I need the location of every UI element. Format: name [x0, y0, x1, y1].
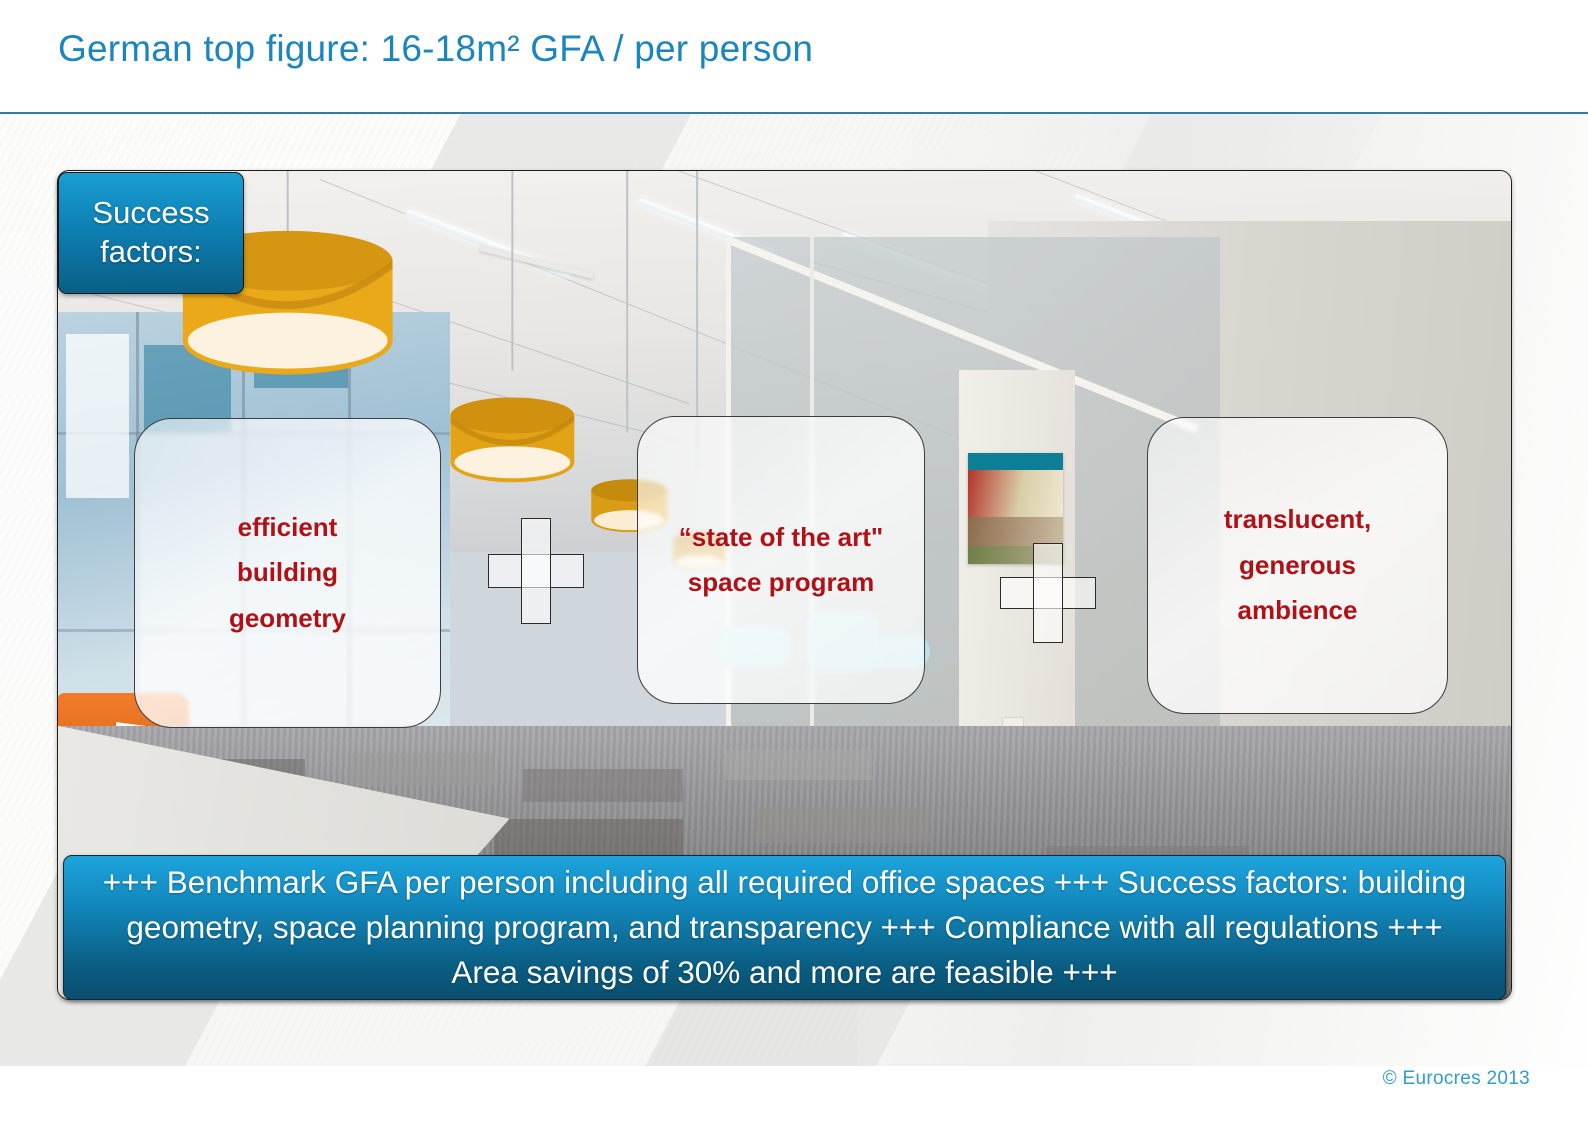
success-factors-label: Success factors:: [92, 194, 209, 272]
pendant-lamp-2: [450, 397, 574, 482]
factor-card-label: “state of the art" space program: [679, 515, 883, 606]
factor-card-efficient-building-geometry[interactable]: efficient building geometry: [134, 418, 441, 728]
page-title: German top figure: 16-18m² GFA / per per…: [58, 28, 813, 70]
benchmark-ticker-banner: +++ Benchmark GFA per person including a…: [63, 855, 1506, 1000]
factor-card-translucent-generous-ambience[interactable]: translucent, generous ambience: [1147, 417, 1448, 714]
success-factors-badge: Success factors:: [58, 172, 244, 294]
plus-connector-2-icon: [1000, 543, 1096, 643]
plus-connector-1-icon: [488, 518, 584, 624]
factor-card-label: translucent, generous ambience: [1224, 497, 1371, 634]
copyright-footer: © Eurocres 2013: [1383, 1068, 1530, 1090]
benchmark-ticker-text: +++ Benchmark GFA per person including a…: [90, 860, 1479, 994]
factor-card-label: efficient building geometry: [229, 505, 346, 642]
factor-card-state-of-the-art-space-program[interactable]: “state of the art" space program: [637, 416, 925, 704]
